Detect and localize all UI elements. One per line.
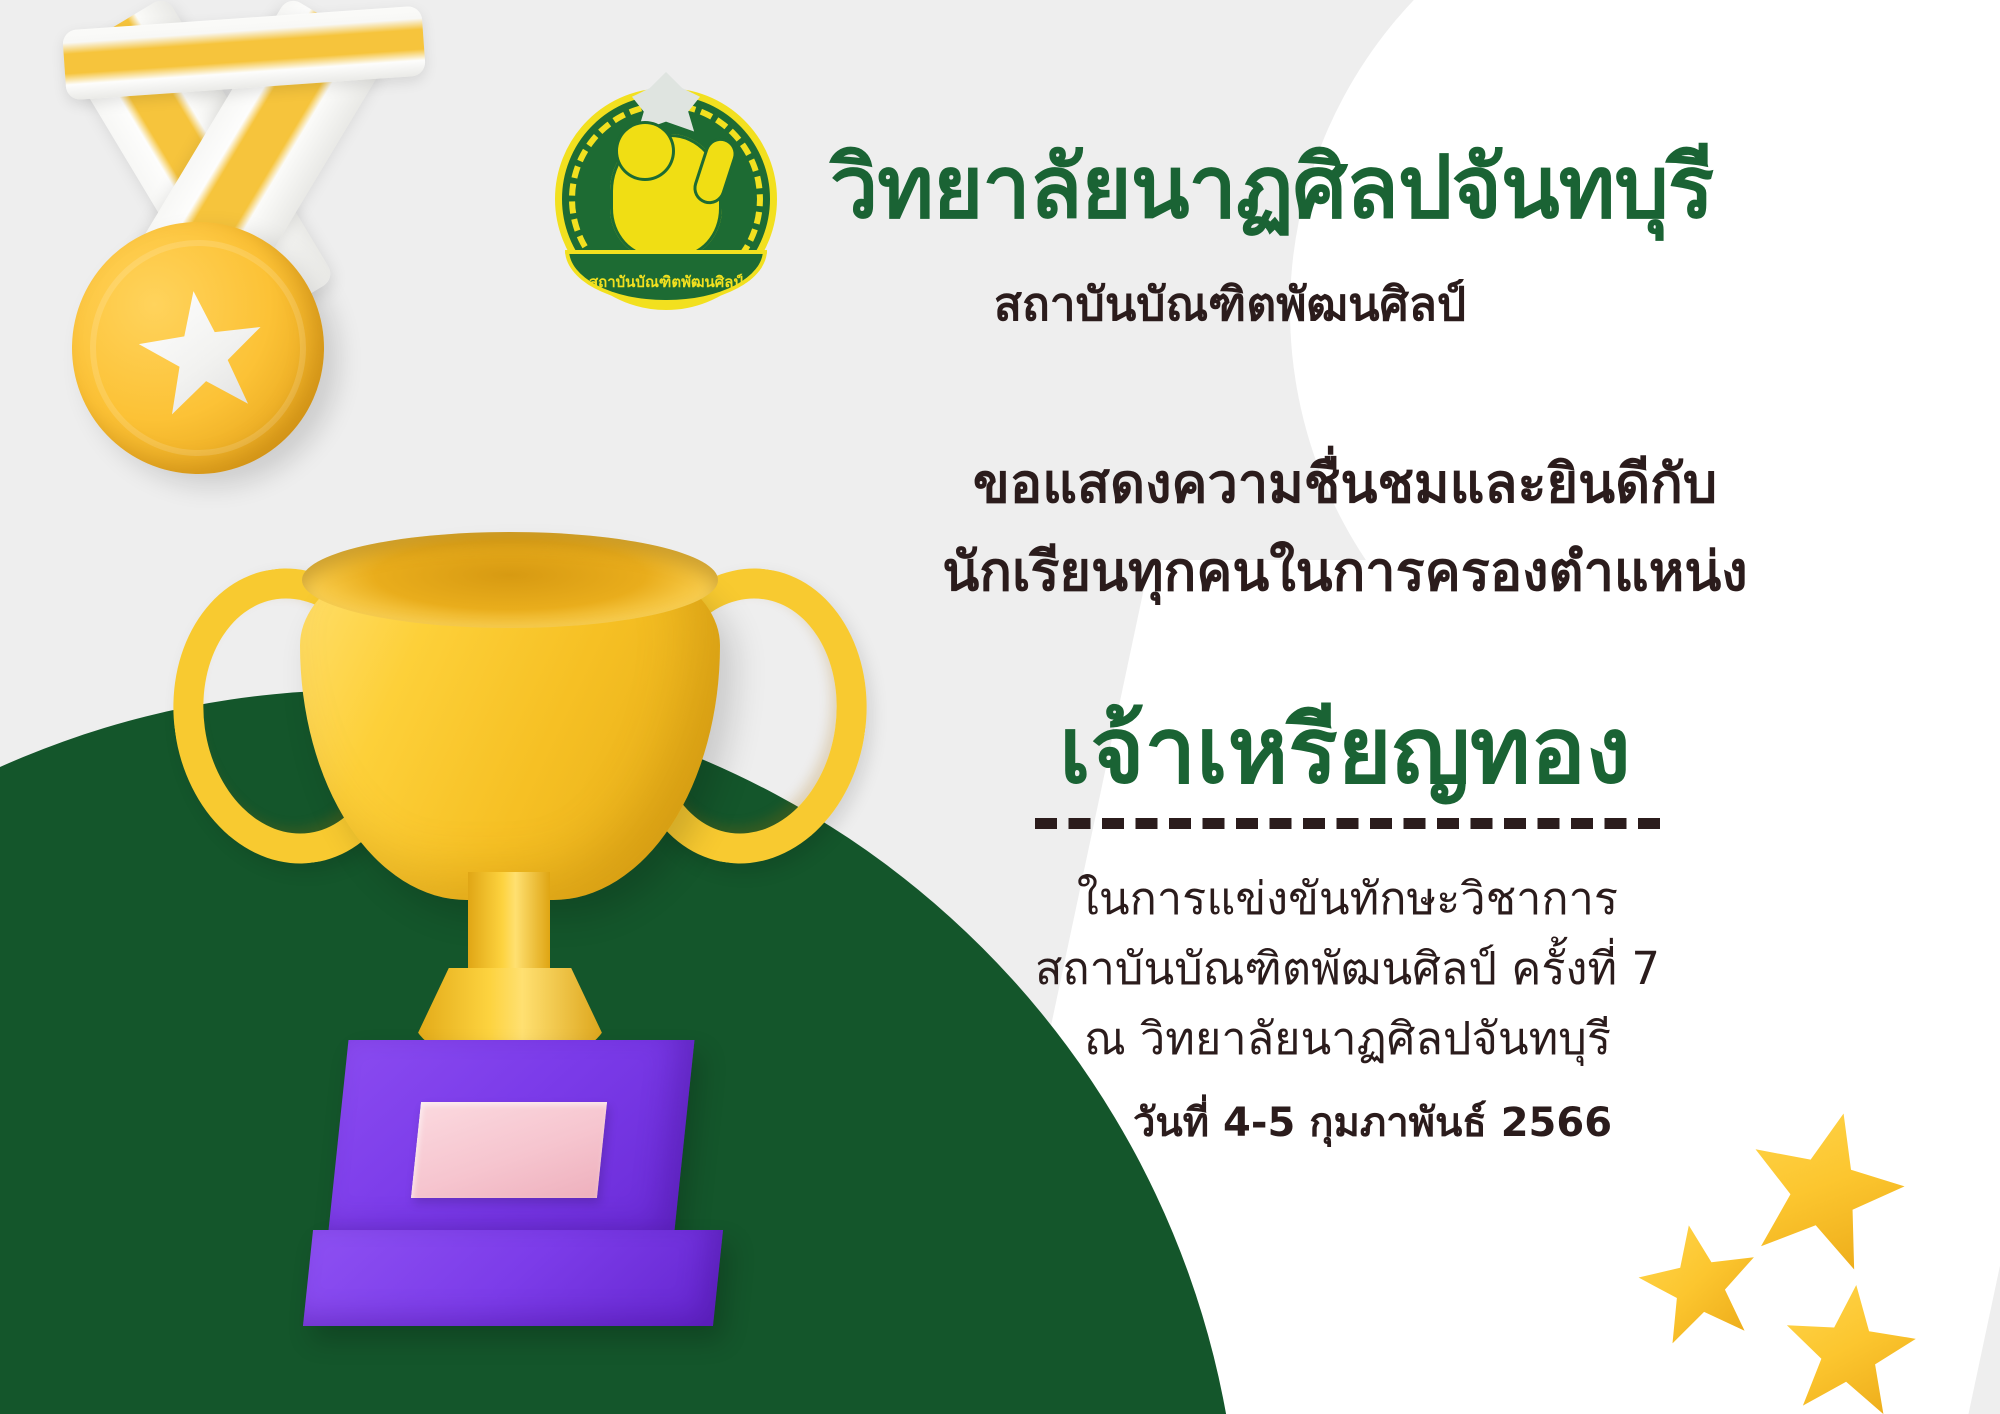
trophy-base-lower: [303, 1230, 723, 1326]
seal-banner-text: สถาบันบัณฑิตพัฒนศิลป์: [565, 250, 767, 304]
detail-line-1: ในการแข่งขันทักษะวิชาการ: [830, 862, 1865, 934]
trophy-rim: [302, 532, 718, 628]
trophy-stem: [468, 872, 550, 982]
congratulation-line-2: นักเรียนทุกคนในการครองตำแหน่ง: [830, 528, 1860, 614]
detail-line-2: สถาบันบัณฑิตพัฒนศิลป์ ครั้งที่ 7: [830, 932, 1865, 1004]
organization-title: วิทยาลัยนาฏศิลปจันทบุรี: [830, 118, 1920, 255]
gold-medal-icon: [30, 10, 500, 530]
gold-trophy-icon: [190, 520, 850, 1350]
congratulation-line-1: ขอแสดงความชื่นชมและยินดีกับ: [830, 440, 1860, 526]
seal-ganesha-icon: [610, 134, 722, 258]
trophy-plaque: [411, 1102, 607, 1198]
award-title: เจ้าเหรียญทอง: [830, 676, 1860, 823]
congratulations-poster: สถาบันบัณฑิตพัฒนศิลป์ วิทยาลัยนาฏศิลปจัน…: [0, 0, 2000, 1414]
event-date: วันที่ 4-5 กุมภาพันธ์ 2566: [830, 1090, 1915, 1154]
dashed-divider: [1035, 818, 1660, 829]
organization-subtitle: สถาบันบัณฑิตพัฒนศิลป์: [830, 268, 1630, 341]
institution-seal-icon: สถาบันบัณฑิตพัฒนศิลป์: [555, 88, 777, 310]
detail-line-3: ณ วิทยาลัยนาฏศิลปจันทบุรี: [830, 1002, 1865, 1074]
